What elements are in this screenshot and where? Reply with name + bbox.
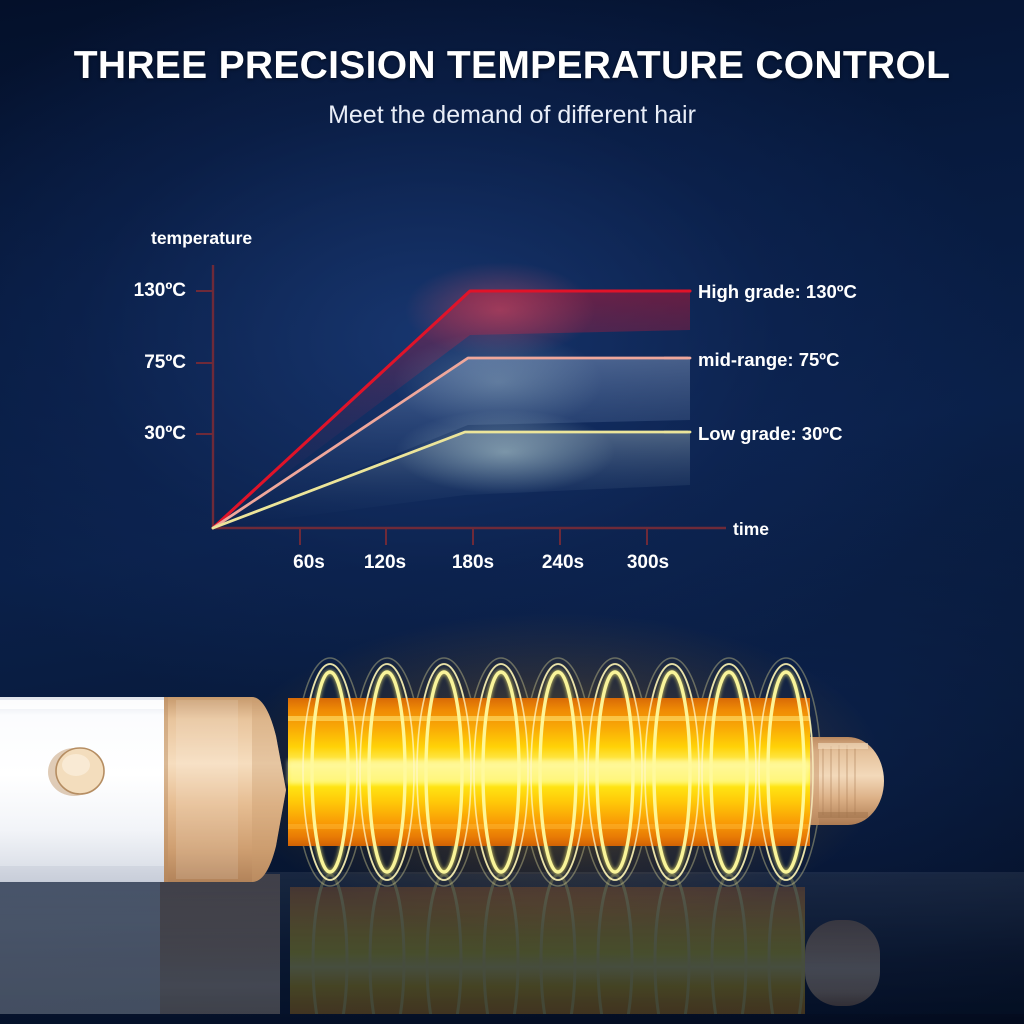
x-tick-label-60s: 60s: [293, 552, 325, 574]
heat-rings-back: [295, 658, 821, 886]
power-button[interactable]: [48, 748, 104, 796]
handle: [0, 697, 164, 882]
y-axis-label: temperature: [151, 228, 252, 249]
reflection-fade: [0, 872, 1024, 1024]
y-tick-label-130: 130ºC: [60, 280, 186, 302]
legend-label-mid-range: mid-range: 75ºC: [698, 349, 839, 371]
heated-barrel: [288, 698, 810, 846]
y-tick-label-30: 30ºC: [60, 423, 186, 445]
heat-rings-front: [303, 664, 813, 880]
temperature-chart: temperature time 130ºC 75ºC 30ºC 60s 120…: [0, 0, 1024, 620]
x-tick-label-240s: 240s: [542, 552, 584, 574]
chart-canvas: [0, 0, 1024, 620]
x-axis-label: time: [733, 519, 769, 540]
x-tick-label-120s: 120s: [364, 552, 406, 574]
legend-label-low-grade: Low grade: 30ºC: [698, 423, 843, 445]
gold-collar: [160, 697, 286, 882]
y-tick-label-75: 75ºC: [60, 352, 186, 374]
barrel-halo: [225, 612, 885, 932]
product-infographic: THREE PRECISION TEMPERATURE CONTROL Meet…: [0, 0, 1024, 1024]
reflection: [0, 873, 1024, 1024]
gold-tip: [805, 737, 884, 825]
x-tick-label-300s: 300s: [627, 552, 669, 574]
legend-label-high-grade: High grade: 130ºC: [698, 281, 857, 303]
low-grade-knee-glow: [395, 410, 615, 494]
x-tick-label-180s: 180s: [452, 552, 494, 574]
